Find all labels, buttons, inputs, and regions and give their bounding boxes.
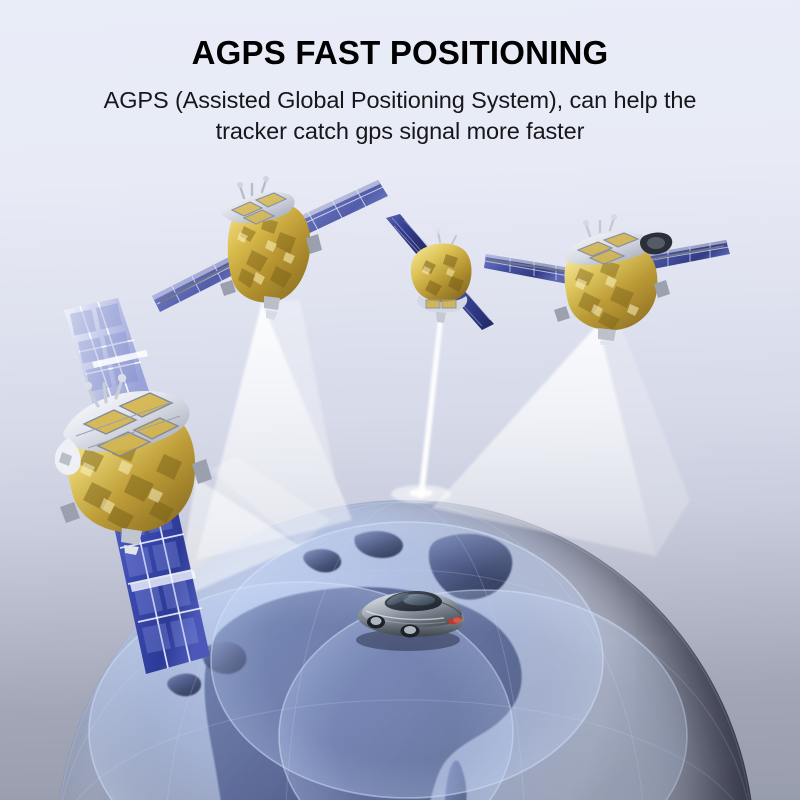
satellite-large-left (46, 296, 236, 686)
heading-block: AGPS FAST POSITIONING AGPS (Assisted Glo… (0, 0, 800, 148)
solar-panel (484, 254, 570, 284)
signal-beam-cone (262, 300, 352, 520)
page-subtitle: AGPS (Assisted Global Positioning System… (50, 71, 750, 148)
subtitle-line-2: tracker catch gps signal more faster (50, 116, 750, 147)
signal-beam-line (418, 320, 443, 498)
beam-convergence-core (409, 489, 433, 497)
tracked-car (344, 578, 472, 652)
subtitle-line-1: AGPS (Assisted Global Positioning System… (104, 87, 697, 113)
satellite-top-right (458, 210, 734, 345)
transmitter-horn (264, 296, 280, 320)
transmitter-horn (598, 328, 616, 345)
page-title: AGPS FAST POSITIONING (0, 0, 800, 71)
agps-infographic: AGPS FAST POSITIONING AGPS (Assisted Glo… (0, 0, 800, 800)
